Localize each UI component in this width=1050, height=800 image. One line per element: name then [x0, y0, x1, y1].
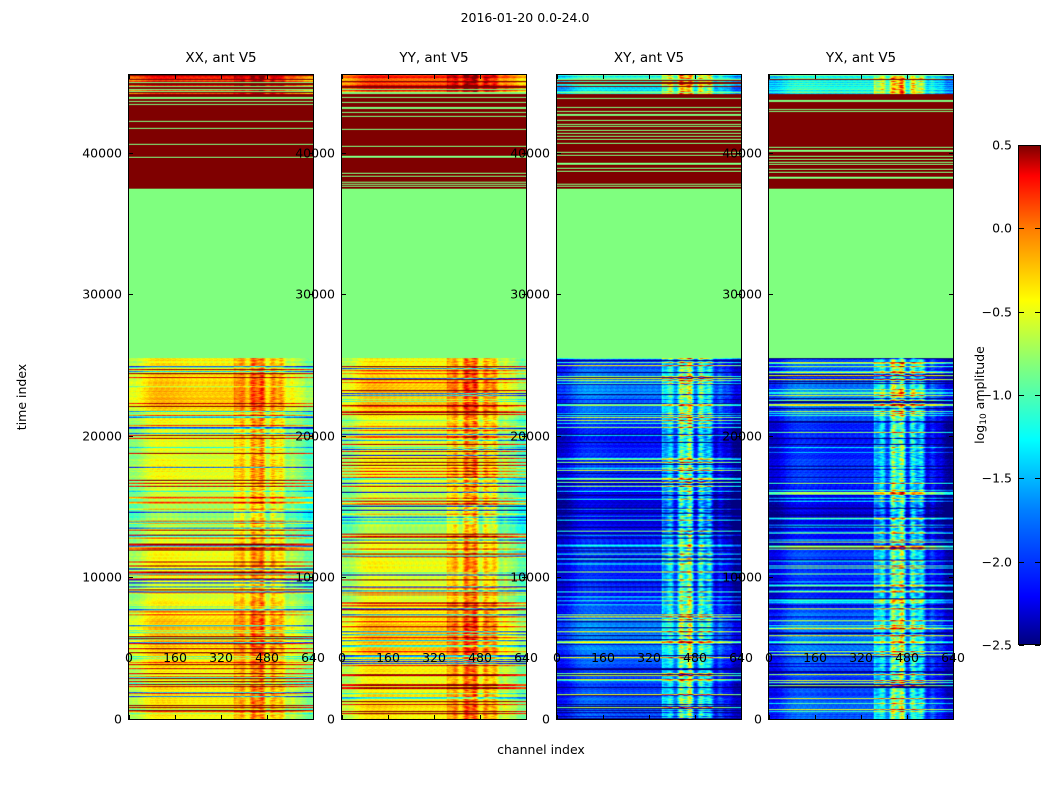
waterfall-heatmap — [768, 74, 954, 720]
y-tick — [769, 436, 773, 437]
x-tick — [129, 75, 130, 79]
x-tick-label: 160 — [803, 650, 827, 665]
y-tick — [769, 153, 773, 154]
panel-title: XY, ant V5 — [556, 50, 742, 66]
y-tick-label: 30000 — [0, 287, 762, 302]
x-tick-label: 320 — [209, 650, 233, 665]
x-tick-label: 160 — [591, 650, 615, 665]
matplotlib-figure: 2016-01-20 0.0-24.0 XX, ant V5YY, ant V5… — [0, 0, 1050, 800]
x-tick-label: 480 — [683, 650, 707, 665]
x-tick — [815, 715, 816, 719]
x-tick-label: 320 — [422, 650, 446, 665]
colorbar-tick — [1019, 645, 1024, 646]
y-tick — [949, 153, 953, 154]
colorbar-tick-label: −2.0 — [960, 554, 1012, 569]
x-tick-label: 640 — [729, 650, 753, 665]
waterfall-heatmap — [128, 74, 314, 720]
x-tick — [953, 715, 954, 719]
waterfall-heatmap — [341, 74, 527, 720]
x-tick — [649, 75, 650, 79]
x-axis-label: channel index — [128, 742, 954, 757]
x-tick-label: 640 — [514, 650, 538, 665]
panel-title: XX, ant V5 — [128, 50, 314, 66]
x-tick — [861, 75, 862, 79]
colorbar-tick — [1035, 562, 1040, 563]
y-tick — [949, 436, 953, 437]
x-tick-label: 0 — [765, 650, 773, 665]
colorbar-tick — [1019, 395, 1024, 396]
colorbar-tick — [1019, 228, 1024, 229]
panel-title: YX, ant V5 — [768, 50, 954, 66]
x-tick — [221, 75, 222, 79]
x-tick — [342, 75, 343, 79]
x-tick-label: 480 — [468, 650, 492, 665]
x-tick-label: 320 — [849, 650, 873, 665]
x-tick — [557, 75, 558, 79]
x-tick-label: 640 — [941, 650, 965, 665]
x-tick-label: 0 — [553, 650, 561, 665]
x-tick-label: 160 — [376, 650, 400, 665]
x-tick — [313, 75, 314, 79]
colorbar-tick — [1019, 312, 1024, 313]
y-tick — [769, 719, 773, 720]
colorbar-tick — [1035, 395, 1040, 396]
y-tick-label: 10000 — [0, 570, 762, 585]
y-tick-label: 40000 — [0, 145, 762, 160]
x-tick-label: 640 — [301, 650, 325, 665]
panel-yy: YY, ant V5 — [341, 74, 527, 720]
panel-xy: XY, ant V5 — [556, 74, 742, 720]
colorbar-tick-label: −1.5 — [960, 471, 1012, 486]
x-tick — [861, 715, 862, 719]
x-tick — [741, 75, 742, 79]
figure-suptitle: 2016-01-20 0.0-24.0 — [0, 10, 1050, 25]
colorbar-label-tail: amplitude — [972, 346, 987, 413]
x-tick-label: 480 — [895, 650, 919, 665]
y-tick-label: 0 — [0, 712, 762, 727]
x-tick — [603, 75, 604, 79]
x-tick-label: 0 — [125, 650, 133, 665]
waterfall-heatmap — [556, 74, 742, 720]
x-tick-label: 480 — [255, 650, 279, 665]
colorbar-tick — [1035, 645, 1040, 646]
colorbar-tick — [1019, 478, 1024, 479]
colorbar-tick-label: 0.5 — [960, 138, 1012, 153]
colorbar-tick-label: −0.5 — [960, 304, 1012, 319]
colorbar-tick — [1035, 145, 1040, 146]
y-tick — [949, 719, 953, 720]
y-tick-label: 20000 — [0, 428, 762, 443]
colorbar-tick — [1035, 478, 1040, 479]
x-tick — [907, 715, 908, 719]
colorbar-label: log10 amplitude — [972, 346, 989, 444]
x-tick — [907, 75, 908, 79]
y-tick — [769, 577, 773, 578]
x-tick-label: 160 — [163, 650, 187, 665]
x-tick — [815, 75, 816, 79]
x-tick — [526, 75, 527, 79]
y-tick — [949, 577, 953, 578]
x-tick — [480, 75, 481, 79]
x-tick — [953, 75, 954, 79]
y-axis-label: time index — [14, 364, 29, 430]
x-tick — [388, 75, 389, 79]
colorbar-label-main: log — [972, 425, 987, 444]
panel-yx: YX, ant V5 — [768, 74, 954, 720]
colorbar-tick — [1035, 312, 1040, 313]
x-tick — [695, 75, 696, 79]
x-tick-label: 320 — [637, 650, 661, 665]
x-tick — [769, 75, 770, 79]
colorbar-tick-label: 0.0 — [960, 221, 1012, 236]
x-tick-label: 0 — [338, 650, 346, 665]
x-tick — [267, 75, 268, 79]
colorbar-tick — [1035, 228, 1040, 229]
colorbar-label-sub: 10 — [979, 413, 989, 424]
y-tick — [769, 294, 773, 295]
colorbar-tick — [1019, 562, 1024, 563]
colorbar-tick-label: −2.5 — [960, 638, 1012, 653]
x-tick — [175, 75, 176, 79]
x-tick — [434, 75, 435, 79]
panel-title: YY, ant V5 — [341, 50, 527, 66]
y-tick — [949, 294, 953, 295]
colorbar-tick — [1019, 145, 1024, 146]
panel-xx: XX, ant V5 — [128, 74, 314, 720]
